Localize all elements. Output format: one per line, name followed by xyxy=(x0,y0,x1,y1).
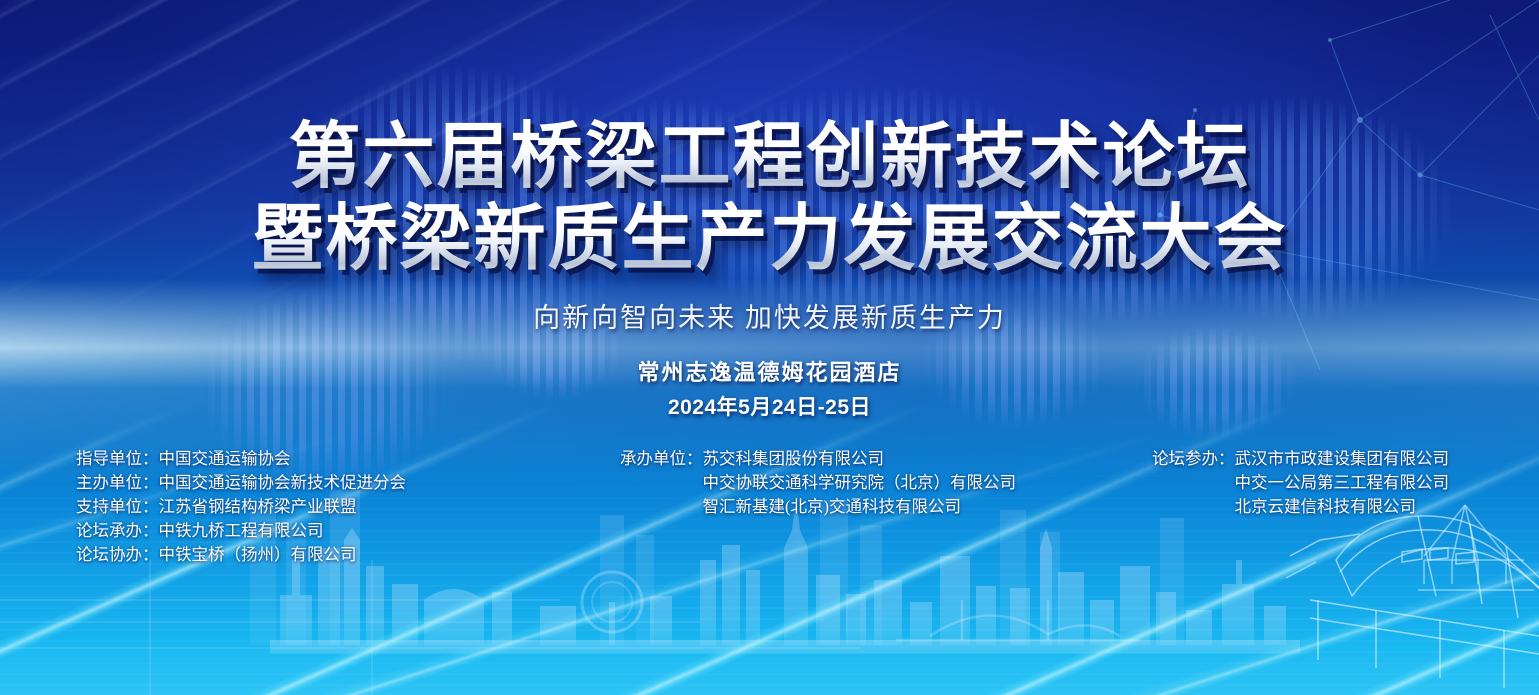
organizer-value: 智汇新基建(北京)交通科技有限公司 xyxy=(703,495,962,519)
organizer-value: 中交一公局第三工程有限公司 xyxy=(1235,471,1450,495)
organizer-row: 论坛承办： 中铁九桥工程有限公司 xyxy=(76,519,406,543)
organizer-row: 论坛参办： 北京云建信科技有限公司 xyxy=(1152,495,1449,519)
organizer-value: 江苏省钢结构桥梁产业联盟 xyxy=(159,495,357,519)
organizer-value: 中国交通运输协会 xyxy=(159,447,291,471)
organizer-label: 论坛参办： xyxy=(1152,447,1235,471)
organizer-label: 主办单位： xyxy=(76,471,159,495)
organizer-label: 支持单位： xyxy=(76,495,159,519)
poster-subtitle: 向新向智向未来 加快发展新质生产力 xyxy=(0,296,1539,335)
organizer-value: 中铁九桥工程有限公司 xyxy=(159,519,324,543)
organizers-left-column: 指导单位： 中国交通运输协会 主办单位： 中国交通运输协会新技术促进分会 支持单… xyxy=(76,447,406,567)
organizer-row: 承办单位： 智汇新基建(北京)交通科技有限公司 xyxy=(620,495,1016,519)
organizer-row: 支持单位： 江苏省钢结构桥梁产业联盟 xyxy=(76,495,406,519)
venue-name: 常州志逸温德姆花园酒店 xyxy=(0,355,1539,387)
title-line-2: 暨桥梁新质生产力发展交流大会 xyxy=(0,198,1539,280)
organizer-row: 指导单位： 中国交通运输协会 xyxy=(76,447,406,471)
organizer-row: 论坛参办： 武汉市市政建设集团有限公司 xyxy=(1152,447,1449,471)
organizer-label: 论坛协办： xyxy=(76,543,159,567)
organizer-value: 北京云建信科技有限公司 xyxy=(1235,495,1417,519)
organizer-row: 承办单位： 苏交科集团股份有限公司 xyxy=(620,447,1016,471)
organizer-value: 中国交通运输协会新技术促进分会 xyxy=(159,471,407,495)
venue-block: 常州志逸温德姆花园酒店 2024年5月24日-25日 xyxy=(0,355,1539,421)
title-line-1: 第六届桥梁工程创新技术论坛 xyxy=(0,116,1539,198)
organizers-right-column: 论坛参办： 武汉市市政建设集团有限公司 论坛参办： 中交一公局第三工程有限公司 … xyxy=(1152,447,1449,519)
event-dates: 2024年5月24日-25日 xyxy=(0,391,1539,421)
organizer-label: 指导单位： xyxy=(76,447,159,471)
organizer-row: 论坛参办： 中交一公局第三工程有限公司 xyxy=(1152,471,1449,495)
organizer-value: 苏交科集团股份有限公司 xyxy=(703,447,885,471)
conference-banner: 第六届桥梁工程创新技术论坛 暨桥梁新质生产力发展交流大会 向新向智向未来 加快发… xyxy=(0,0,1539,695)
organizer-value: 中交协联交通科学研究院（北京）有限公司 xyxy=(703,471,1017,495)
organizer-value: 武汉市市政建设集团有限公司 xyxy=(1235,447,1450,471)
organizer-value: 中铁宝桥（扬州）有限公司 xyxy=(159,543,357,567)
organizer-row: 主办单位： 中国交通运输协会新技术促进分会 xyxy=(76,471,406,495)
organizer-row: 承办单位： 中交协联交通科学研究院（北京）有限公司 xyxy=(620,471,1016,495)
organizer-label: 承办单位： xyxy=(620,447,703,471)
organizer-row: 论坛协办： 中铁宝桥（扬州）有限公司 xyxy=(76,543,406,567)
organizer-label: 论坛承办： xyxy=(76,519,159,543)
organizers-middle-column: 承办单位： 苏交科集团股份有限公司 承办单位： 中交协联交通科学研究院（北京）有… xyxy=(620,447,1016,519)
poster-title: 第六届桥梁工程创新技术论坛 暨桥梁新质生产力发展交流大会 xyxy=(0,116,1539,280)
